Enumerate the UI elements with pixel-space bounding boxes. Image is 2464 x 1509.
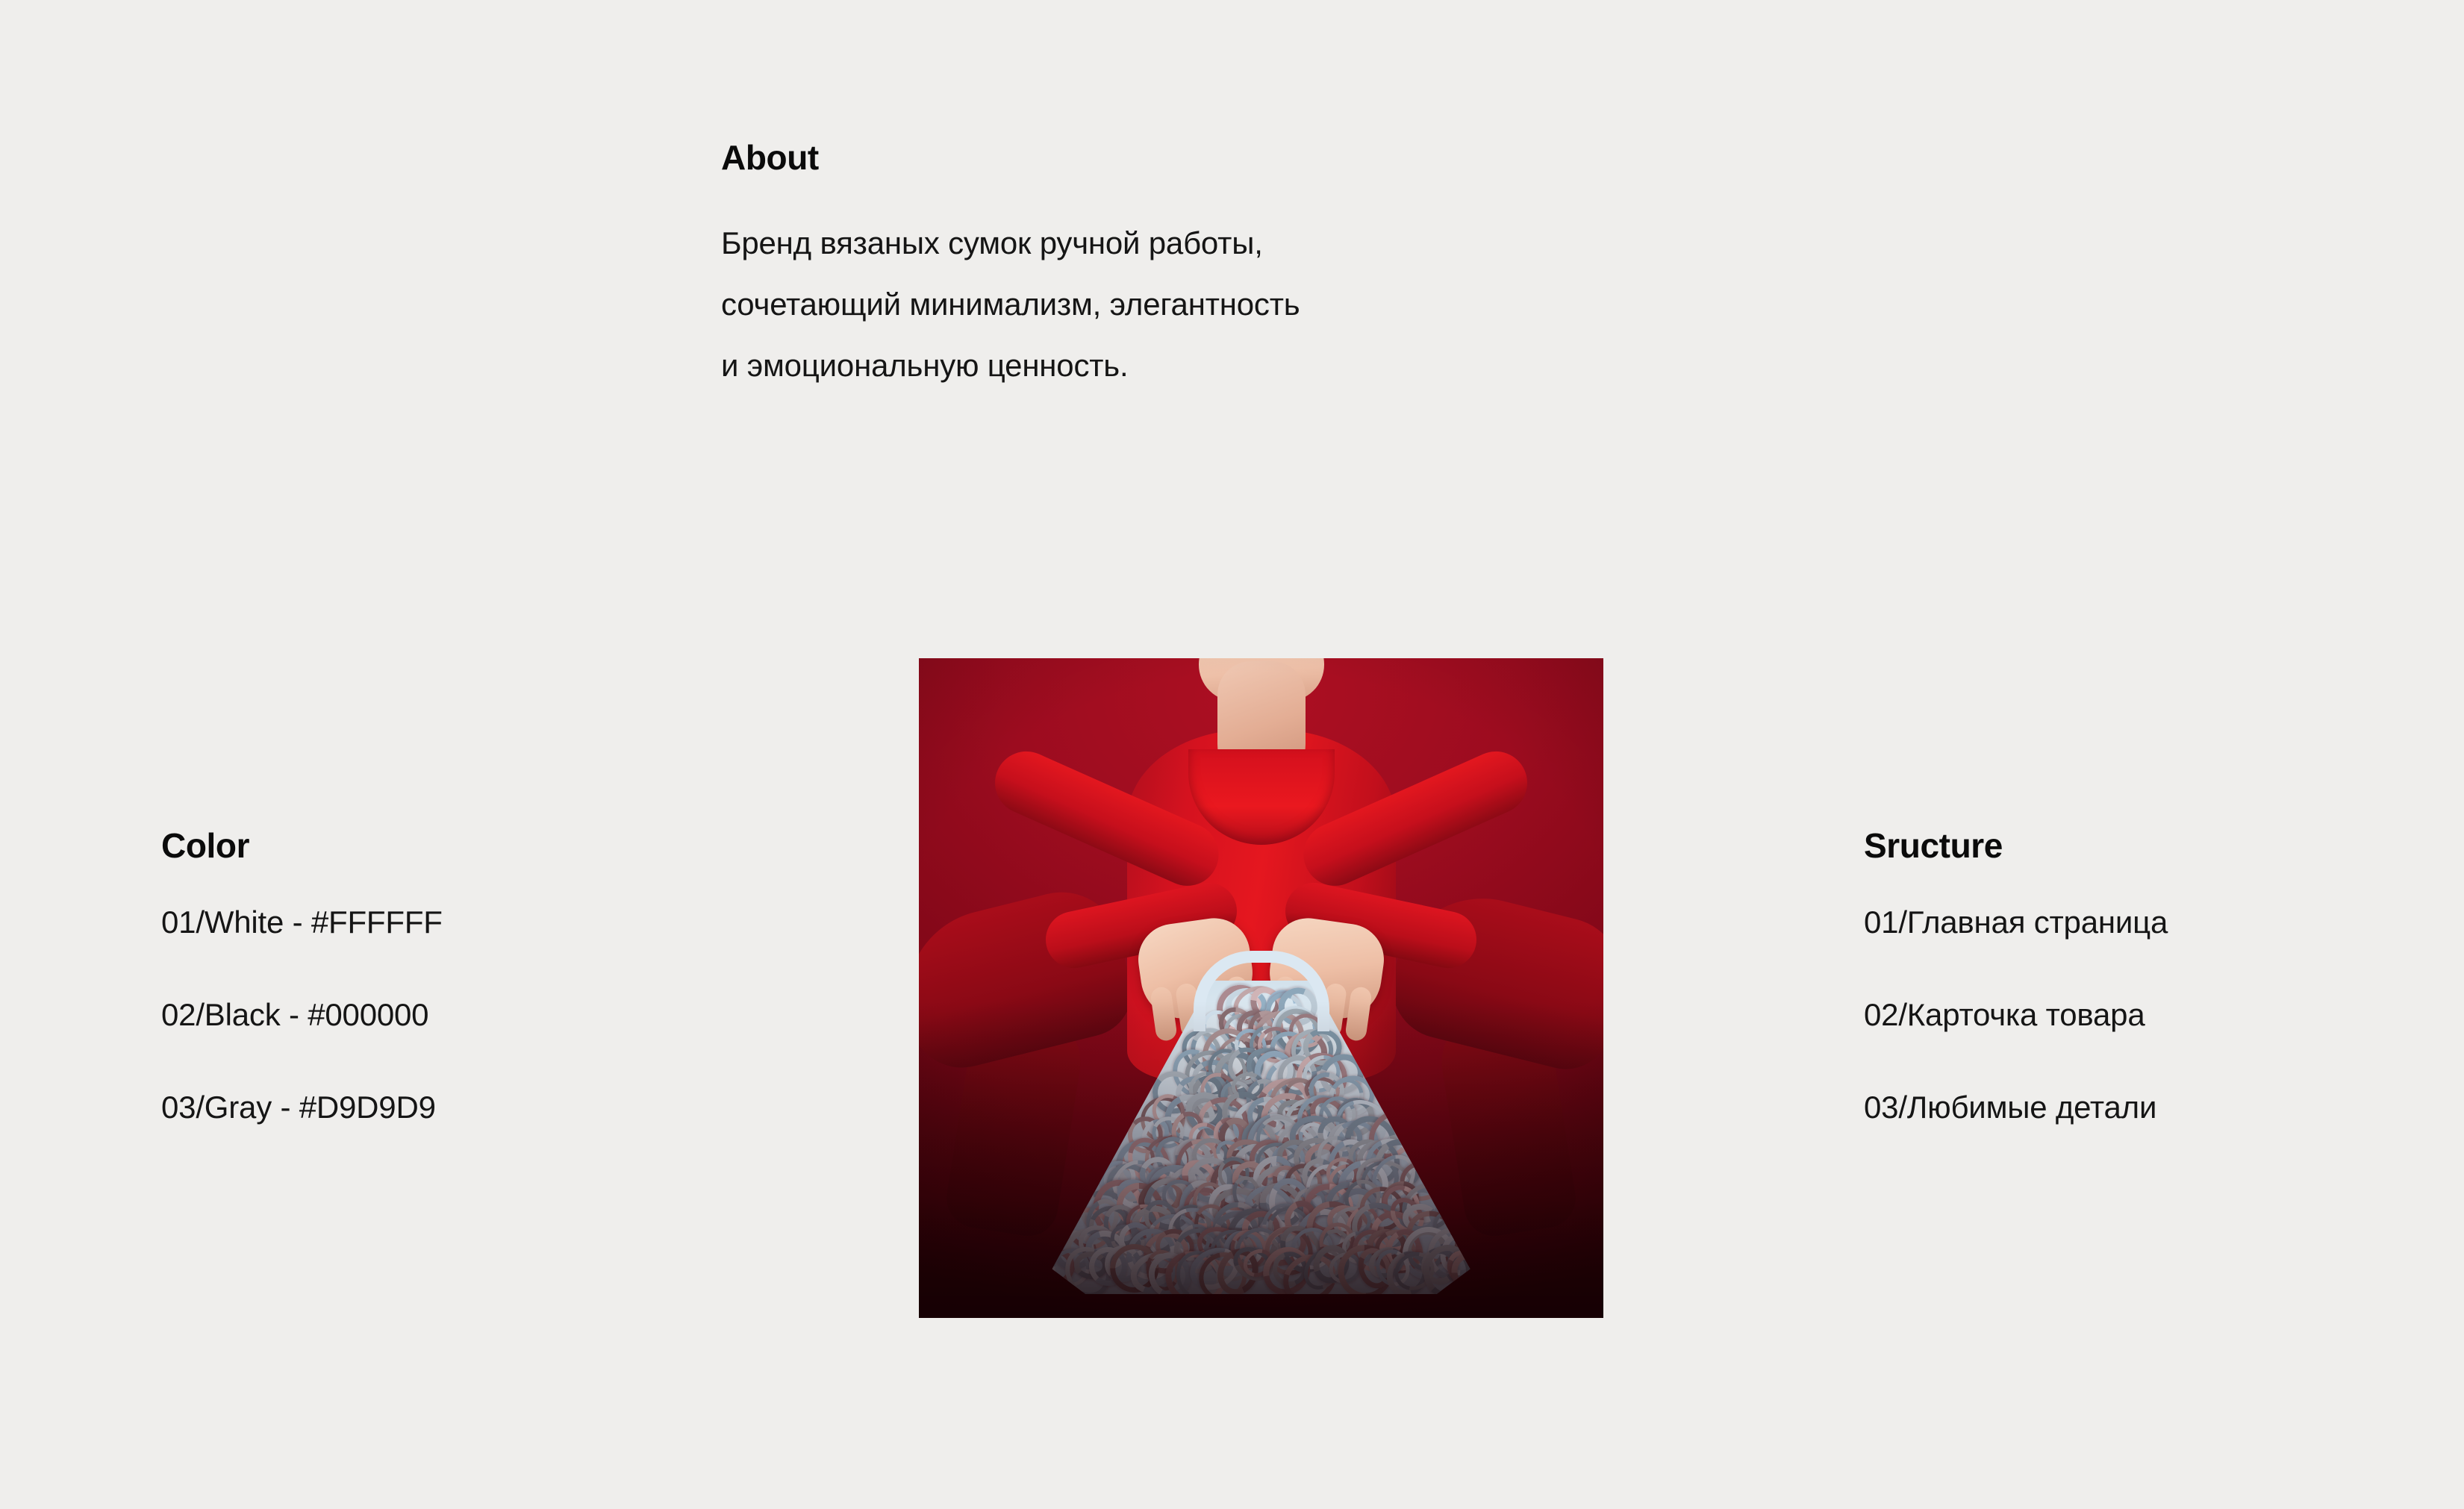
model-collar (1188, 749, 1335, 845)
structure-list-item: 02/Карточка товара (1864, 999, 2168, 1092)
color-list-item: 02/Black - #000000 (161, 999, 443, 1092)
color-list-item: 03/Gray - #D9D9D9 (161, 1092, 443, 1123)
structure-list: 01/Главная страница 02/Карточка товара 0… (1864, 865, 2168, 1123)
about-heading: About (721, 139, 1736, 177)
color-list: 01/White - #FFFFFF 02/Black - #000000 03… (161, 865, 443, 1123)
structure-list-item: 01/Главная страница (1864, 907, 2168, 999)
about-body: Бренд вязаных сумок ручной работы, сочет… (721, 177, 1736, 396)
about-body-line-1: Бренд вязаных сумок ручной работы, (721, 213, 1736, 274)
product-photo (919, 658, 1603, 1318)
presentation-slide: About Бренд вязаных сумок ручной работы,… (0, 0, 2464, 1509)
bag-handle (1194, 951, 1329, 1031)
about-body-line-2: сочетающий минимализм, элегантность (721, 274, 1736, 335)
structure-heading: Sructure (1864, 827, 2168, 865)
about-body-line-3: и эмоциональную ценность. (721, 335, 1736, 396)
photo-backdrop (919, 658, 1603, 1318)
color-section: Color 01/White - #FFFFFF 02/Black - #000… (161, 827, 443, 1123)
color-heading: Color (161, 827, 443, 865)
color-list-item: 01/White - #FFFFFF (161, 907, 443, 999)
knitted-bag (1052, 951, 1470, 1302)
structure-section: Sructure 01/Главная страница 02/Карточка… (1864, 827, 2168, 1123)
structure-list-item: 03/Любимые детали (1864, 1092, 2168, 1123)
about-section: About Бренд вязаных сумок ручной работы,… (721, 139, 1736, 396)
